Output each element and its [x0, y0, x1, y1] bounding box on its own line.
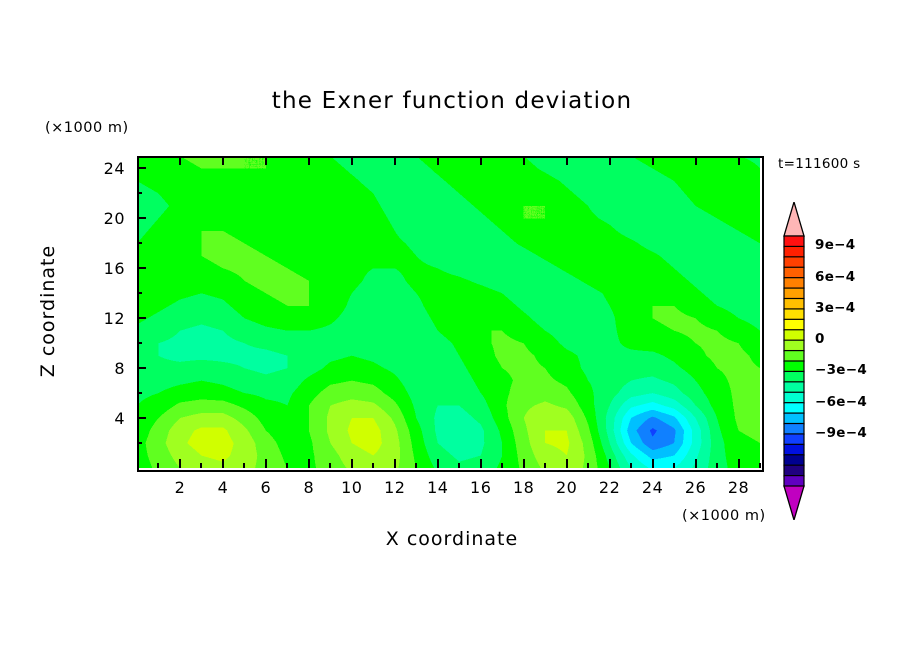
colorbar-swatch — [784, 330, 804, 341]
colorbar-swatch — [784, 288, 804, 299]
x-tick-label: 8 — [289, 478, 329, 497]
x-axis-unit-label: (×1000 m) — [682, 508, 766, 524]
x-axis-title: X coordinate — [0, 528, 904, 550]
x-tick-label: 4 — [203, 478, 243, 497]
colorbar-swatch — [784, 257, 804, 268]
colorbar-swatch — [784, 455, 804, 466]
x-tick-label: 18 — [504, 478, 544, 497]
x-axis-ticks: 246810121416182022242628 — [0, 478, 904, 502]
x-tick-label: 6 — [246, 478, 286, 497]
contour-plot-area — [137, 156, 760, 468]
colorbar-swatch — [784, 403, 804, 414]
colorbar-swatch — [784, 444, 804, 455]
y-tick-label: 4 — [85, 409, 125, 428]
colorbar-tick-label: −9e−4 — [815, 425, 867, 441]
colorbar-swatch — [784, 413, 804, 424]
x-tick-label: 20 — [547, 478, 587, 497]
y-tick-label: 24 — [85, 159, 125, 178]
y-tick-label: 20 — [85, 209, 125, 228]
colorbar-swatch — [784, 236, 804, 247]
colorbar-swatch — [784, 465, 804, 476]
x-tick-label: 22 — [590, 478, 630, 497]
colorbar-swatch — [784, 267, 804, 278]
exner-colorbar — [779, 202, 809, 520]
contour-raster — [137, 156, 760, 468]
colorbar-swatch — [784, 434, 804, 445]
colorbar-tick-label: −3e−4 — [815, 362, 867, 378]
colorbar-swatch — [784, 351, 804, 362]
x-tick-label: 2 — [160, 478, 200, 497]
x-tick-label: 16 — [461, 478, 501, 497]
colorbar-swatch — [784, 278, 804, 289]
y-tick-label: 12 — [85, 309, 125, 328]
colorbar-swatch — [784, 299, 804, 310]
colorbar-swatch — [784, 361, 804, 372]
page-title: the Exner function deviation — [0, 88, 904, 114]
colorbar-swatches — [779, 202, 809, 520]
colorbar-tick-label: −6e−4 — [815, 394, 867, 410]
x-tick-label: 28 — [719, 478, 759, 497]
colorbar-swatch — [784, 340, 804, 351]
colorbar-top-arrow — [784, 202, 804, 236]
colorbar-swatch — [784, 246, 804, 257]
x-tick-label: 24 — [633, 478, 673, 497]
colorbar-tick-label: 9e−4 — [815, 237, 855, 253]
y-tick-label: 16 — [85, 259, 125, 278]
x-tick-label: 14 — [418, 478, 458, 497]
colorbar-swatch — [784, 319, 804, 330]
colorbar-swatch — [784, 392, 804, 403]
colorbar-swatch — [784, 309, 804, 320]
x-tick-label: 10 — [332, 478, 372, 497]
x-tick-label: 26 — [676, 478, 716, 497]
timestamp-annotation: t=111600 s — [778, 156, 860, 172]
colorbar-swatch — [784, 371, 804, 382]
x-tick-label: 12 — [375, 478, 415, 497]
colorbar-swatch — [784, 424, 804, 435]
colorbar-bottom-arrow — [784, 486, 804, 520]
colorbar-swatch — [784, 476, 804, 487]
colorbar-tick-label: 3e−4 — [815, 300, 855, 316]
colorbar-tick-label: 6e−4 — [815, 269, 855, 285]
colorbar-swatch — [784, 382, 804, 393]
y-tick-label: 8 — [85, 359, 125, 378]
y-axis-ticks: 4812162024 — [0, 0, 135, 654]
contour-field — [137, 156, 760, 468]
colorbar-tick-label: 0 — [815, 331, 825, 347]
